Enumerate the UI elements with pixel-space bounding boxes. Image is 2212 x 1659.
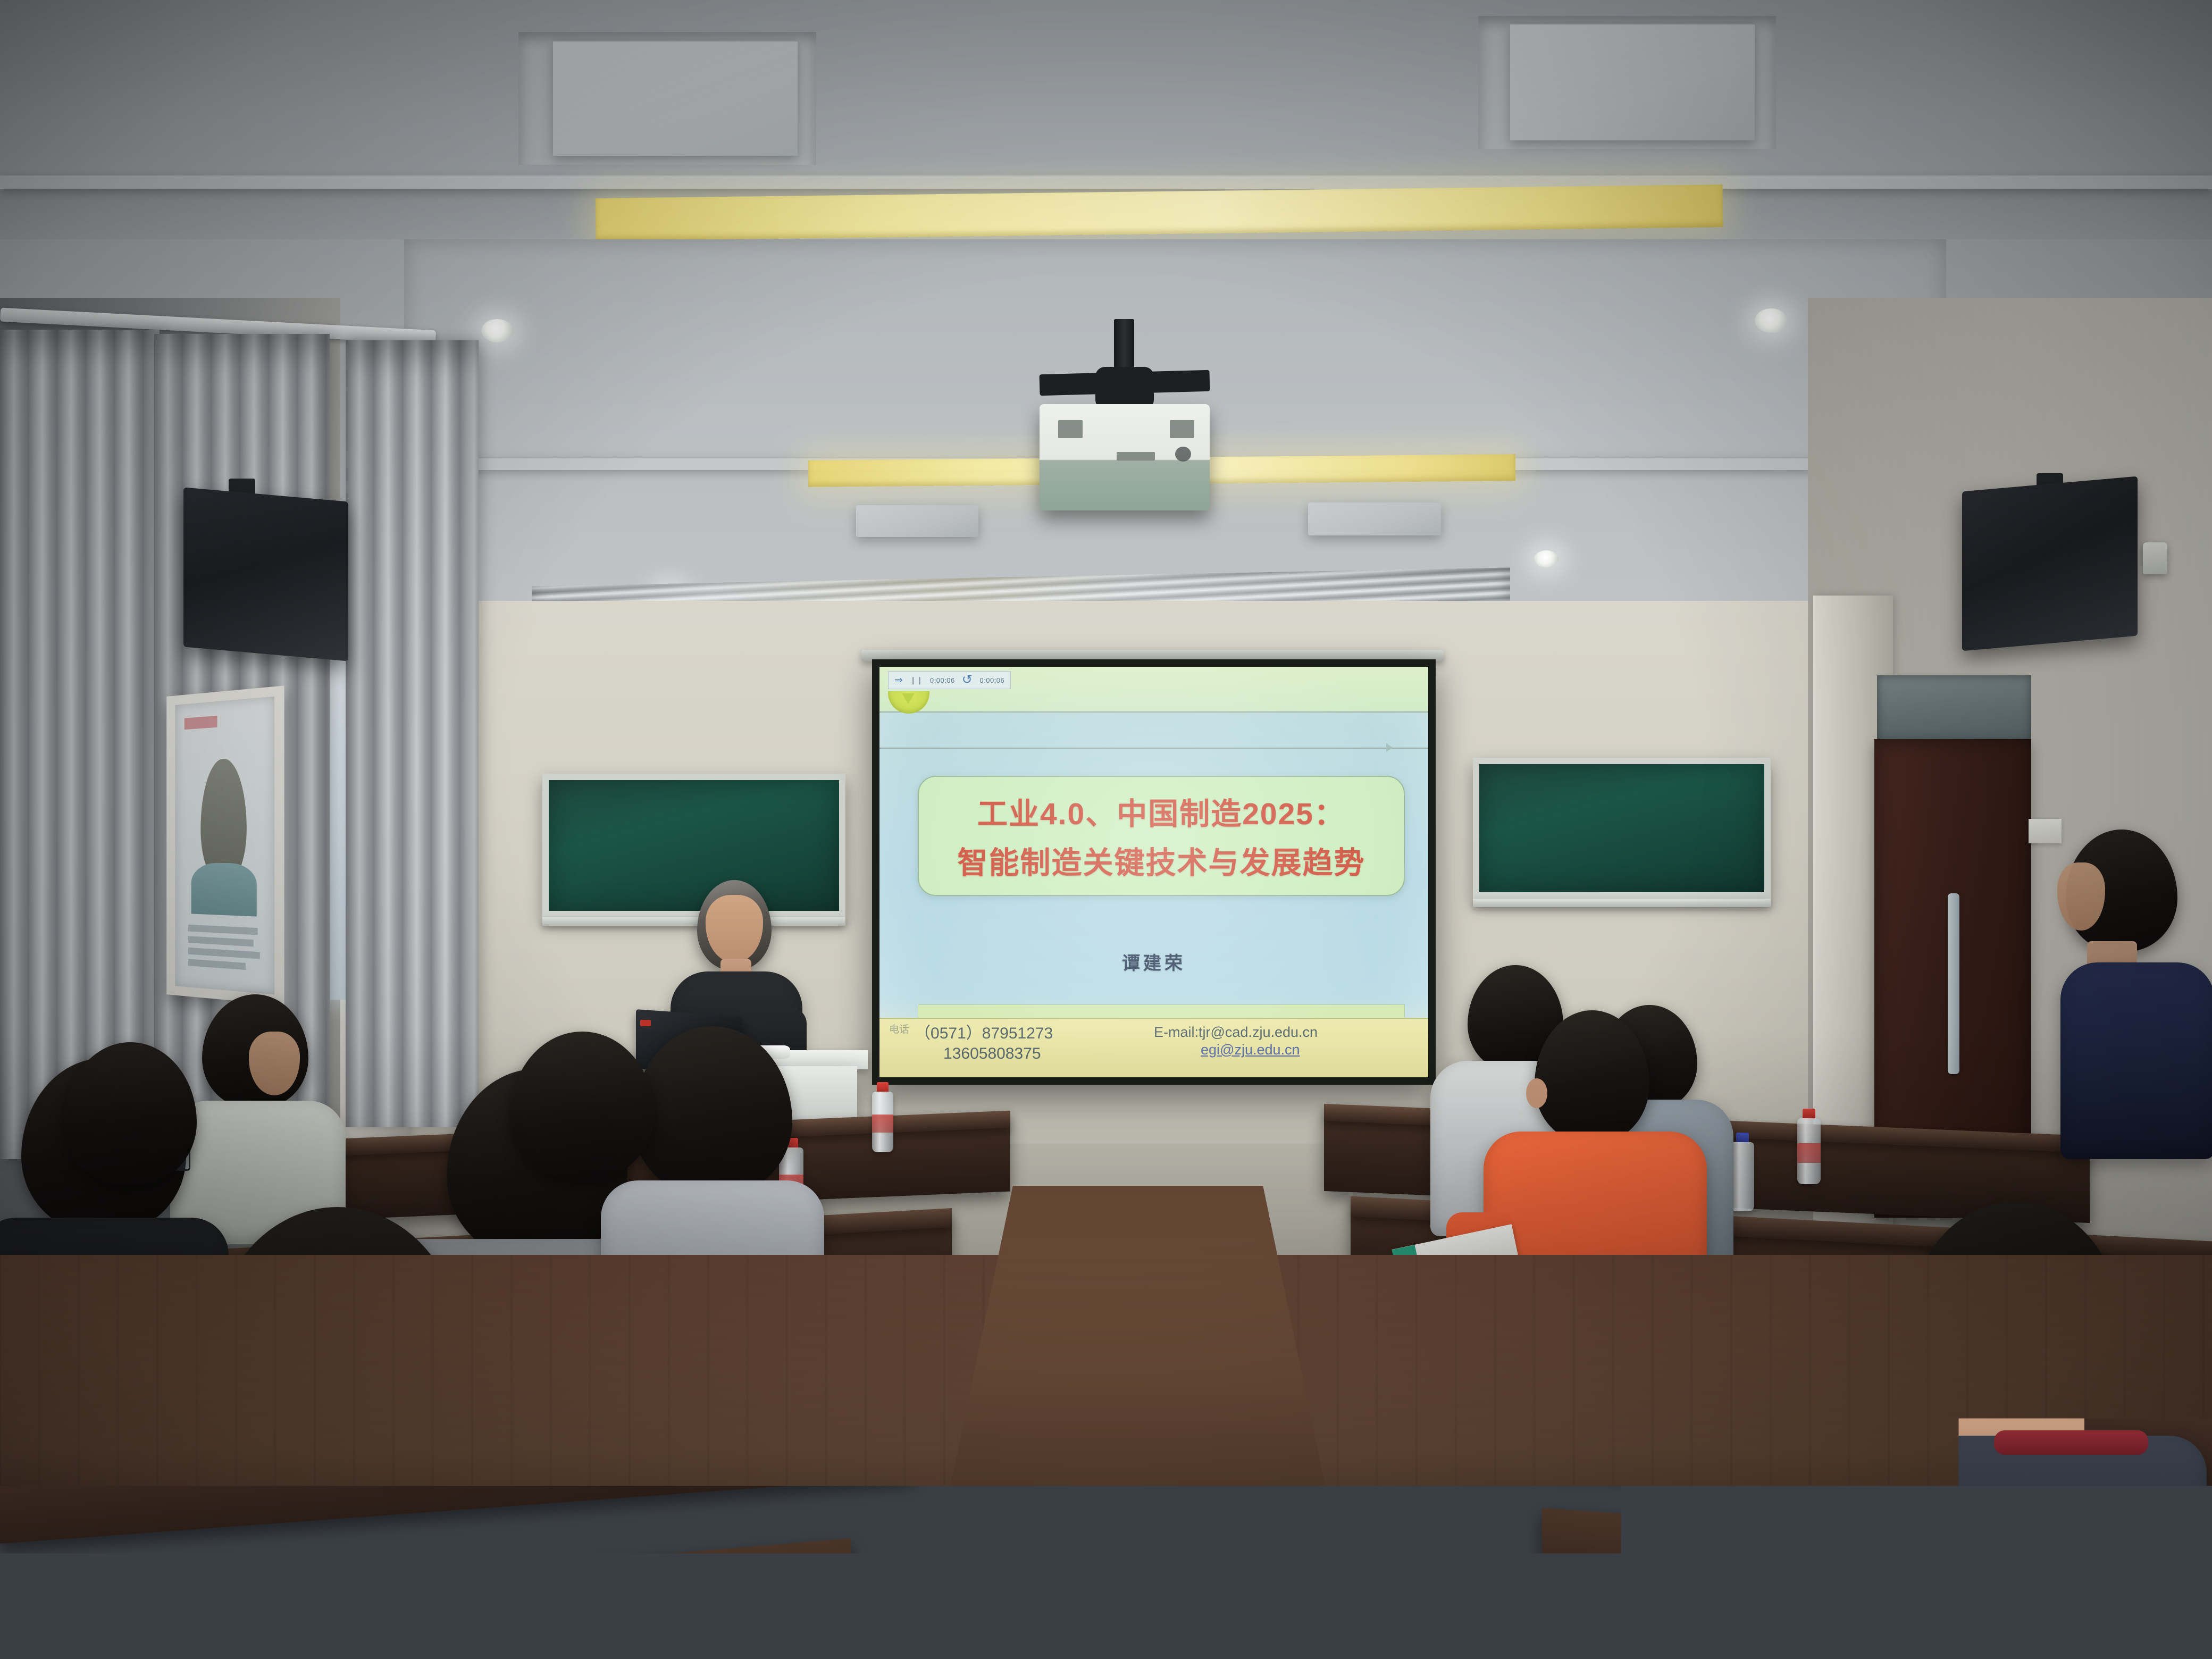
audience-ear <box>1526 1078 1547 1108</box>
water-bottle[interactable] <box>1731 1133 1754 1211</box>
audience-head <box>1535 1010 1649 1143</box>
laptop-logo-dot <box>640 1020 651 1026</box>
audience-head <box>510 1032 654 1180</box>
contact-phone-stack: （0571）87951273 13605808375 <box>915 1024 1053 1063</box>
ceiling-coffer-outer <box>0 175 2212 189</box>
audience-head-far-left <box>64 1042 197 1202</box>
pause-icon[interactable]: ❙❙ <box>910 676 923 684</box>
projector-lens <box>1175 447 1191 462</box>
audience-head-behind <box>510 1032 654 1191</box>
portrait-shoulders <box>191 862 257 916</box>
presentation-timer-toolbar[interactable]: ⇒ ❙❙ 0:00:06 ↺ 0:00:06 <box>888 671 1011 689</box>
contact-label: 电话 <box>889 1024 909 1063</box>
contact-phone-mobile: 13605808375 <box>943 1044 1053 1064</box>
ceiling-light-panel-right <box>1308 502 1441 535</box>
audience-head <box>64 1042 197 1186</box>
ceiling-panel-left <box>553 41 798 156</box>
door-transom <box>1877 675 2031 744</box>
advance-arrow-icon[interactable]: ⇒ <box>894 675 903 685</box>
bottle-label <box>872 1115 893 1133</box>
chalk-tray-right <box>1473 899 1771 907</box>
contact-email-primary: E-mail:tjr@cad.zju.edu.cn <box>1154 1024 1419 1042</box>
remaining-time: 0:00:06 <box>979 676 1004 684</box>
projector-vent-right <box>1170 420 1194 438</box>
slide-divider-line <box>879 748 1428 749</box>
contact-email-secondary[interactable]: egi@zju.edu.cn <box>1201 1042 1419 1058</box>
bottle-label <box>1797 1143 1821 1163</box>
projection-screen: ⇒ ❙❙ 0:00:06 ↺ 0:00:06 工业4.0、中国制造2025： 智… <box>872 659 1436 1085</box>
curtain-right <box>346 340 479 1127</box>
portrait-text-line <box>188 925 257 935</box>
presentation-slide: ⇒ ❙❙ 0:00:06 ↺ 0:00:06 工业4.0、中国制造2025： 智… <box>879 667 1428 1077</box>
bottle-cap-icon <box>877 1082 889 1093</box>
portrait-head <box>201 758 247 881</box>
audience-head <box>633 1026 792 1196</box>
slide-title-line-1: 工业4.0、中国制造2025： <box>977 790 1345 833</box>
lecture-hall-photo: ⇒ ❙❙ 0:00:06 ↺ 0:00:06 工业4.0、中国制造2025： 智… <box>0 0 2212 1659</box>
wall-framed-portrait <box>166 685 284 1005</box>
ceiling-panel-right <box>1510 24 1755 140</box>
downlight-3 <box>1755 308 1788 333</box>
downlight-1 <box>481 319 513 342</box>
slide-speaker-name: 谭建荣 <box>879 949 1428 975</box>
ceiling-sensor-right <box>2143 542 2167 574</box>
contact-email-group: E-mail:tjr@cad.zju.edu.cn egi@zju.edu.cn <box>1154 1024 1419 1058</box>
downlight-4 <box>1534 550 1559 567</box>
contact-phone-group: 电话 （0571）87951273 13605808375 <box>889 1024 1154 1063</box>
slide-title-box: 工业4.0、中国制造2025： 智能制造关键技术与发展趋势 <box>918 776 1405 896</box>
standing-woman-torso <box>2060 962 2212 1159</box>
curtain-left <box>0 330 160 1159</box>
slide-contact-band: 电话 （0571）87951273 13605808375 E-mail:tjr… <box>879 1018 1428 1077</box>
ceiling-light-panel-left <box>856 505 978 537</box>
water-bottle[interactable] <box>1797 1109 1821 1184</box>
portrait-text-line <box>188 936 254 946</box>
wall-speaker-right <box>1962 476 2138 651</box>
framed-portrait-inner <box>175 697 274 995</box>
blackboard-right <box>1473 758 1771 899</box>
wall-speaker-left <box>183 487 348 661</box>
projector-vent <box>1058 420 1083 438</box>
portrait-text-line <box>188 959 245 970</box>
slide-title-line-2: 智能制造关键技术与发展趋势 <box>958 839 1365 882</box>
projector-buttons <box>1117 452 1155 460</box>
contact-phone-primary: （0571）87951273 <box>915 1024 1053 1044</box>
portrait-red-banner <box>185 716 217 730</box>
standing-woman-navy-top <box>2045 829 2212 1159</box>
water-bottle[interactable] <box>872 1082 893 1152</box>
bottle-cap-icon <box>1736 1133 1749 1143</box>
bottle-cap-icon <box>1803 1109 1816 1119</box>
projector-mount-hub <box>1095 367 1154 409</box>
door-handle <box>1948 893 1959 1074</box>
bottle-body <box>1731 1142 1754 1211</box>
portrait-text-line <box>188 948 259 959</box>
undo-icon[interactable]: ↺ <box>962 674 973 686</box>
elapsed-time: 0:00:06 <box>930 676 955 684</box>
